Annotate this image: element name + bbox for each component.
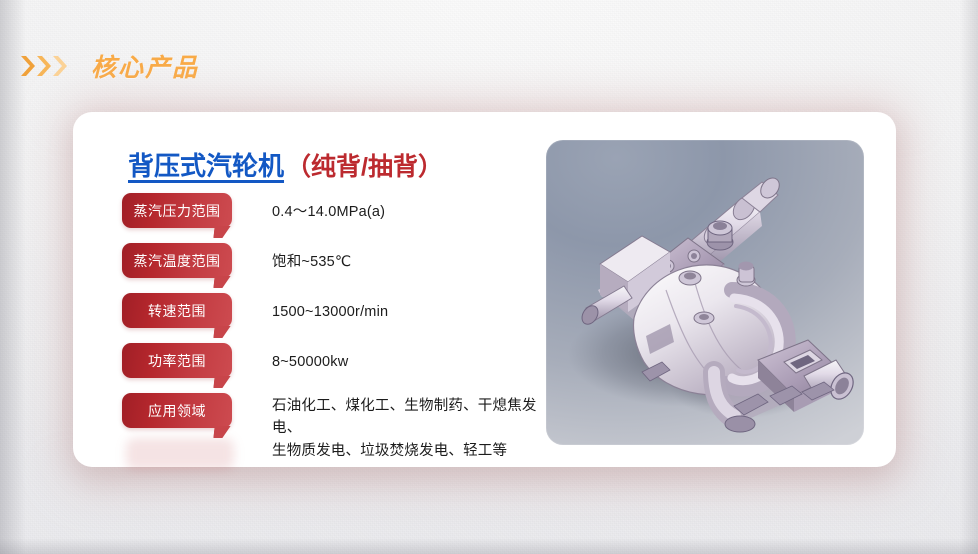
product-title-main: 背压式汽轮机 — [128, 146, 284, 183]
chevron-group — [20, 54, 67, 78]
spec-tag-wrap: 蒸汽压力范围 — [122, 193, 244, 228]
status-badge: 功率范围 — [122, 343, 232, 378]
product-title-variant: （纯背/抽背） — [286, 147, 443, 183]
spec-row: 转速范围 1500~13000r/min — [122, 293, 552, 343]
spec-value: 石油化工、煤化工、生物制药、干熄焦发电、 生物质发电、垃圾焚烧发电、轻工等 — [272, 393, 552, 462]
spec-list: 蒸汽压力范围 0.4～14.0MPa(a) 蒸汽温度范围 饱和~535℃ 转速范… — [122, 193, 552, 443]
status-badge: 蒸汽温度范围 — [122, 243, 232, 278]
spec-value: 0.4～14.0MPa(a) — [272, 193, 385, 223]
spec-tag-wrap: 蒸汽温度范围 — [122, 243, 244, 278]
bottom-edge-shading — [0, 538, 978, 554]
spec-tag-wrap: 功率范围 — [122, 343, 244, 378]
status-badge: 应用领域 — [122, 393, 232, 428]
spec-tag-wrap: 转速范围 — [122, 293, 244, 328]
slide-canvas: 核心产品 背压式汽轮机 （纯背/抽背） 蒸汽压力范围 0.4～14.0MPa(a… — [0, 0, 978, 554]
page-title: 背压式汽轮机 （纯背/抽背） — [128, 146, 443, 183]
spec-label: 应用领域 — [148, 404, 206, 418]
spec-value: 8~50000kw — [272, 343, 348, 373]
spec-label: 转速范围 — [148, 304, 206, 318]
product-image — [546, 140, 864, 445]
spec-value: 1500~13000r/min — [272, 293, 388, 323]
section-title: 核心产品 — [91, 48, 199, 84]
spec-label: 功率范围 — [148, 354, 206, 368]
chevron-right-icon-1 — [20, 54, 35, 78]
spec-row: 蒸汽压力范围 0.4～14.0MPa(a) — [122, 193, 552, 243]
section-header: 核心产品 — [20, 48, 199, 84]
spec-tag-wrap: 应用领域 — [122, 393, 244, 428]
decorative-ghost-tag — [126, 438, 234, 470]
status-badge: 转速范围 — [122, 293, 232, 328]
chevron-right-icon-3 — [52, 54, 67, 78]
status-badge: 蒸汽压力范围 — [122, 193, 232, 228]
spec-label: 蒸汽压力范围 — [134, 204, 221, 218]
spec-row: 蒸汽温度范围 饱和~535℃ — [122, 243, 552, 293]
steam-turbine-render — [546, 140, 864, 445]
spec-row: 功率范围 8~50000kw — [122, 343, 552, 393]
right-edge-shading — [960, 0, 978, 554]
spec-label: 蒸汽温度范围 — [134, 254, 221, 268]
spec-value: 饱和~535℃ — [272, 243, 351, 273]
spec-row: 应用领域 石油化工、煤化工、生物制药、干熄焦发电、 生物质发电、垃圾焚烧发电、轻… — [122, 393, 552, 443]
chevron-right-icon-2 — [36, 54, 51, 78]
